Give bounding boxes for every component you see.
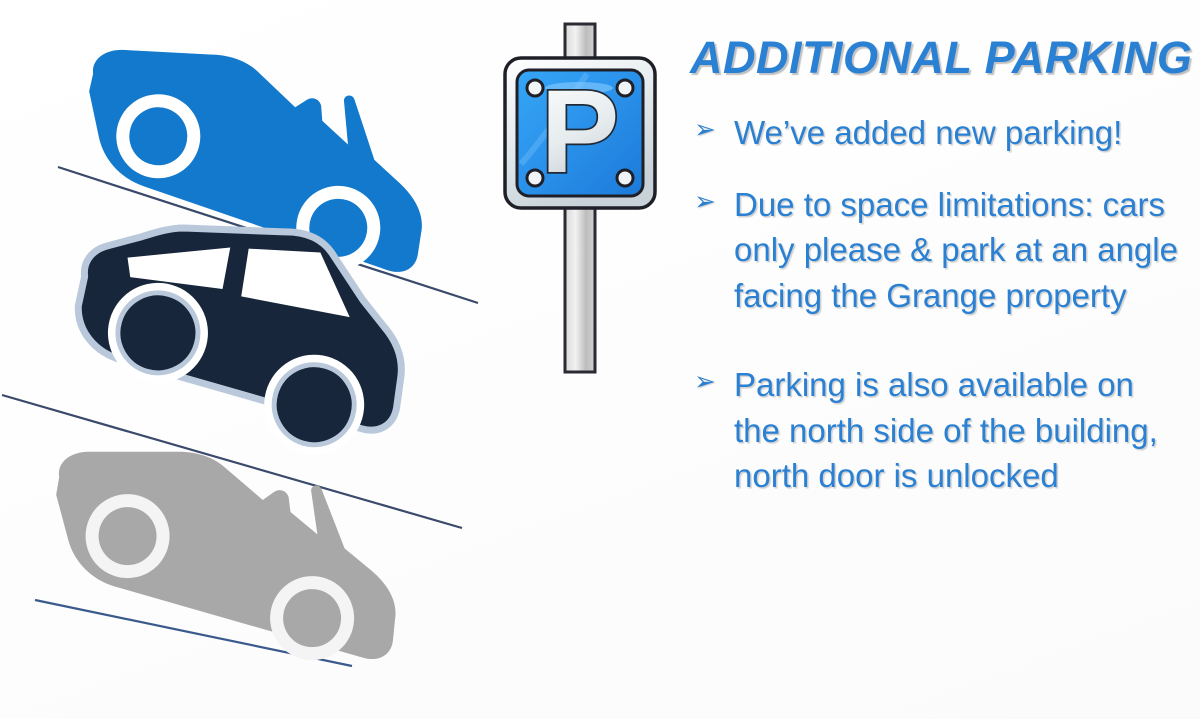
arrow-bullet-icon: ➢ bbox=[694, 362, 734, 394]
sign-bolt-top-right bbox=[617, 80, 633, 96]
bullet-list: ➢ We’ve added new parking! ➢ Due to spac… bbox=[686, 110, 1186, 525]
bullet-text: Due to space limitations: cars only plea… bbox=[734, 182, 1186, 319]
parking-sign: P bbox=[495, 14, 670, 389]
list-item: ➢ We’ve added new parking! bbox=[686, 110, 1186, 156]
cars-illustration: P bbox=[0, 0, 680, 719]
page-title: ADDITIONAL PARKING bbox=[690, 32, 1184, 84]
sign-bolt-bottom-right bbox=[617, 170, 633, 186]
bullet-spacer bbox=[686, 344, 1186, 362]
slide-canvas: P ADDITIONAL PARKING ➢ We’ve added new p… bbox=[0, 0, 1200, 719]
bullet-text: We’ve added new parking! bbox=[734, 110, 1186, 156]
list-item: ➢ Parking is also available on the north… bbox=[686, 362, 1186, 499]
text-content: ADDITIONAL PARKING ➢ We’ve added new par… bbox=[686, 0, 1186, 719]
arrow-bullet-icon: ➢ bbox=[694, 182, 734, 214]
arrow-bullet-icon: ➢ bbox=[694, 110, 734, 142]
sign-letter-p: P bbox=[541, 66, 620, 198]
list-item: ➢ Due to space limitations: cars only pl… bbox=[686, 182, 1186, 319]
bullet-text: Parking is also available on the north s… bbox=[734, 362, 1186, 499]
